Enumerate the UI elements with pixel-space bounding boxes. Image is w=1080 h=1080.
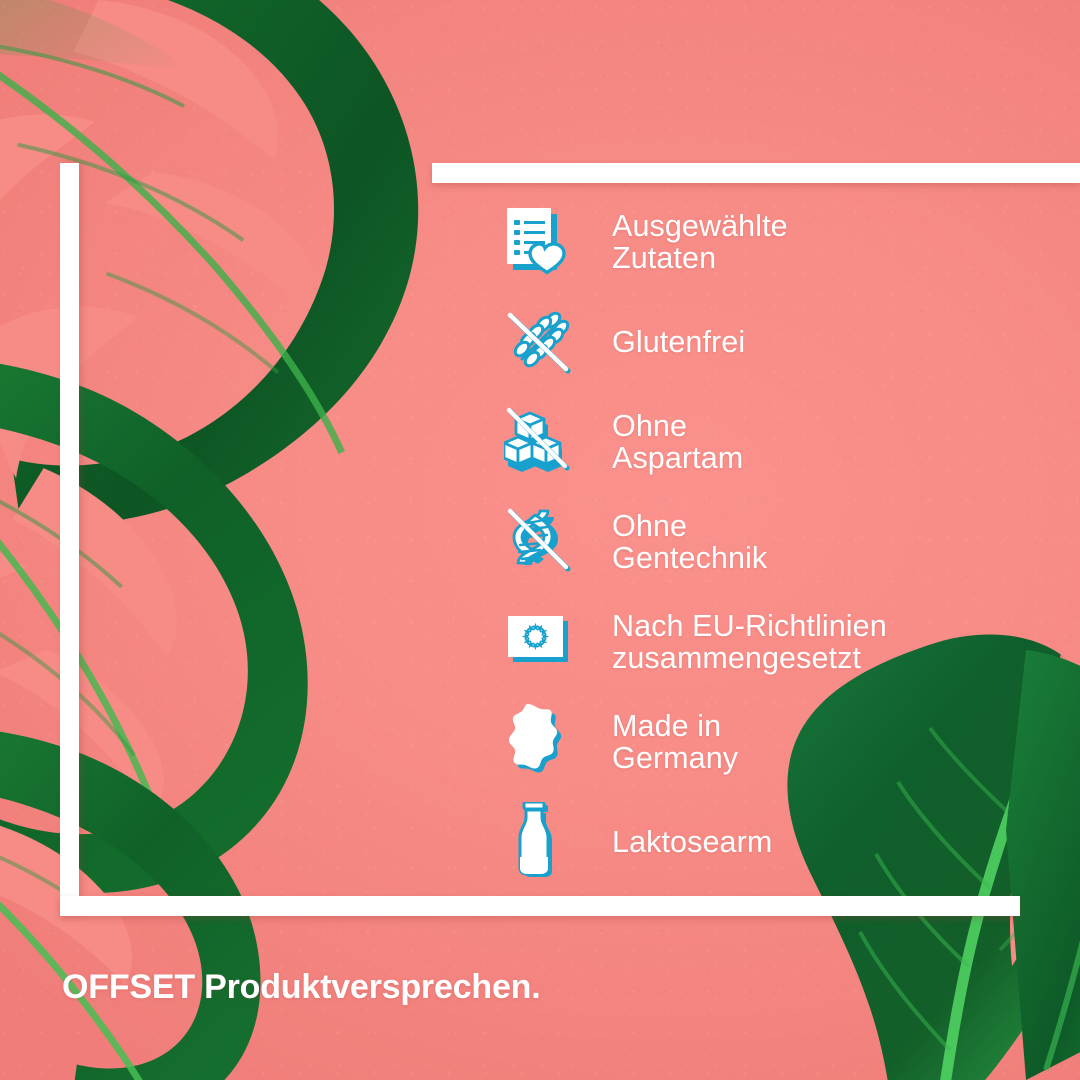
feature-item-laktosearm: Laktosearm	[500, 792, 1060, 892]
eu-flag-icon	[500, 599, 578, 685]
sugar-cubes-crossed-out-icon	[500, 399, 578, 485]
feature-label: Ohne Aspartam	[612, 410, 743, 475]
feature-item-ausgewaehlte-zutaten: Ausgewählte Zutaten	[500, 192, 1060, 292]
milk-bottle-icon	[500, 799, 578, 885]
feature-item-made-in-germany: Made in Germany	[500, 692, 1060, 792]
feature-item-glutenfrei: Glutenfrei	[500, 292, 1060, 392]
feature-label: Laktosearm	[612, 826, 772, 858]
feature-label: Made in Germany	[612, 710, 738, 775]
footer-tagline: OFFSET Produktversprechen.	[62, 968, 540, 1007]
germany-map-icon	[500, 699, 578, 785]
monstera-leaf-lower-left	[0, 700, 310, 1080]
wheat-crossed-out-icon	[500, 299, 578, 385]
feature-label: Glutenfrei	[612, 326, 745, 358]
feature-item-nach-eu-richtlinien: Nach EU-Richtlinien zusammengesetzt	[500, 592, 1060, 692]
feature-label: Nach EU-Richtlinien zusammengesetzt	[612, 610, 887, 675]
feature-label: Ohne Gentechnik	[612, 510, 767, 575]
feature-label: Ausgewählte Zutaten	[612, 210, 788, 275]
product-promise-list: Ausgewählte Zutaten	[500, 192, 1060, 892]
feature-item-ohne-gentechnik: Ohne Gentechnik	[500, 492, 1060, 592]
feature-item-ohne-aspartam: Ohne Aspartam	[500, 392, 1060, 492]
dna-crossed-out-icon	[500, 499, 578, 585]
document-heart-icon	[500, 199, 578, 285]
promo-graphic: Ausgewählte Zutaten	[0, 0, 1080, 1080]
